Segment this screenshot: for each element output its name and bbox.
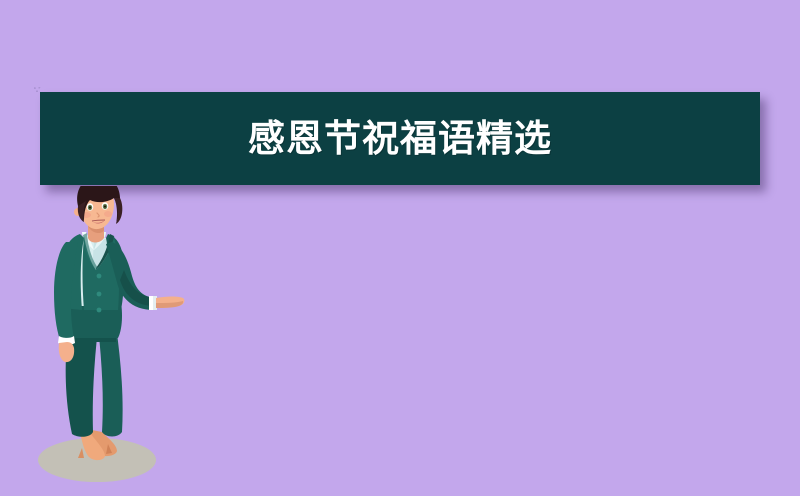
poster-canvas: 感恩节祝福语精选: [0, 0, 800, 496]
woman-illustration: [20, 186, 200, 496]
page-title: 感恩节祝福语精选: [248, 120, 552, 157]
head: [74, 186, 122, 229]
title-banner: 感恩节祝福语精选: [40, 92, 760, 185]
